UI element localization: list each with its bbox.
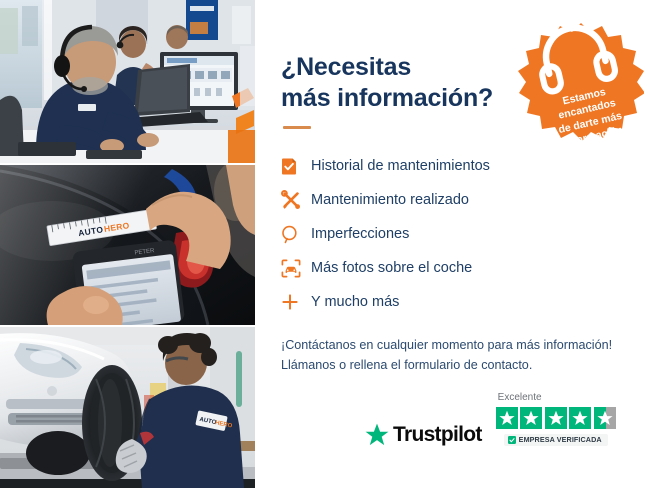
clipboard-check-icon [281,156,311,176]
tools-cross-icon [281,190,311,210]
trustpilot-wordmark: Trustpilot [393,424,482,445]
call-center-agents-photo [0,0,255,163]
car-scan-frame-icon [281,259,311,278]
star-filled [520,407,542,429]
plus-icon [281,293,311,311]
support-badge: Estamos encantados de darte más informac… [518,20,644,146]
list-item: Mantenimiento realizado [281,184,624,216]
headline-line-2: más información? [281,84,493,112]
trustpilot-logo: Trustpilot [365,423,482,446]
rating-label: Excelente [496,393,542,403]
list-item: Más fotos sobre el coche [281,252,624,284]
star-filled [545,407,567,429]
star-partial [594,407,616,429]
verified-label: EMPRESA VERIFICADA [519,436,602,443]
info-promo-card: AUTO HERO [0,0,650,488]
headline-line-1: ¿Necesitas [281,53,411,81]
verified-badge: EMPRESA VERIFICADA [504,434,608,446]
star-filled [496,407,518,429]
list-item: Y mucho más [281,286,624,318]
starburst-shape-icon [518,20,644,146]
photo-column: AUTO HERO [0,0,255,488]
page-title: ¿Necesitas más información? [281,52,531,113]
feature-label: Imperfecciones [311,227,409,242]
mechanic-wheel-check-photo: AUTO HERO [0,327,255,488]
car-inspection-ruler-photo: AUTO HERO [0,165,255,325]
feature-label: Más fotos sobre el coche [311,261,472,276]
magnifier-icon [281,225,311,244]
star-filled [569,407,591,429]
feature-label: Mantenimiento realizado [311,193,469,208]
trustpilot-star-icon [365,423,389,446]
feature-list: Historial de mantenimientos M [281,150,624,318]
feature-label: Historial de mantenimientos [311,159,490,174]
title-divider [283,126,311,129]
list-item: Imperfecciones [281,218,624,250]
trustpilot-rating: Trustpilot Excelente [365,393,616,446]
content-panel: ¿Necesitas más información? Estamos enca… [255,0,650,488]
list-item: Historial de mantenimientos [281,150,624,182]
trustpilot-score-block: Excelente [496,393,616,446]
contact-line-2: Llámanos o rellena el formulario de cont… [281,355,624,375]
feature-label: Y mucho más [311,295,399,310]
star-rating [496,407,616,429]
contact-text: ¡Contáctanos en cualquier momento para m… [281,335,624,376]
verified-check-icon [508,436,516,444]
contact-line-1: ¡Contáctanos en cualquier momento para m… [281,335,624,355]
